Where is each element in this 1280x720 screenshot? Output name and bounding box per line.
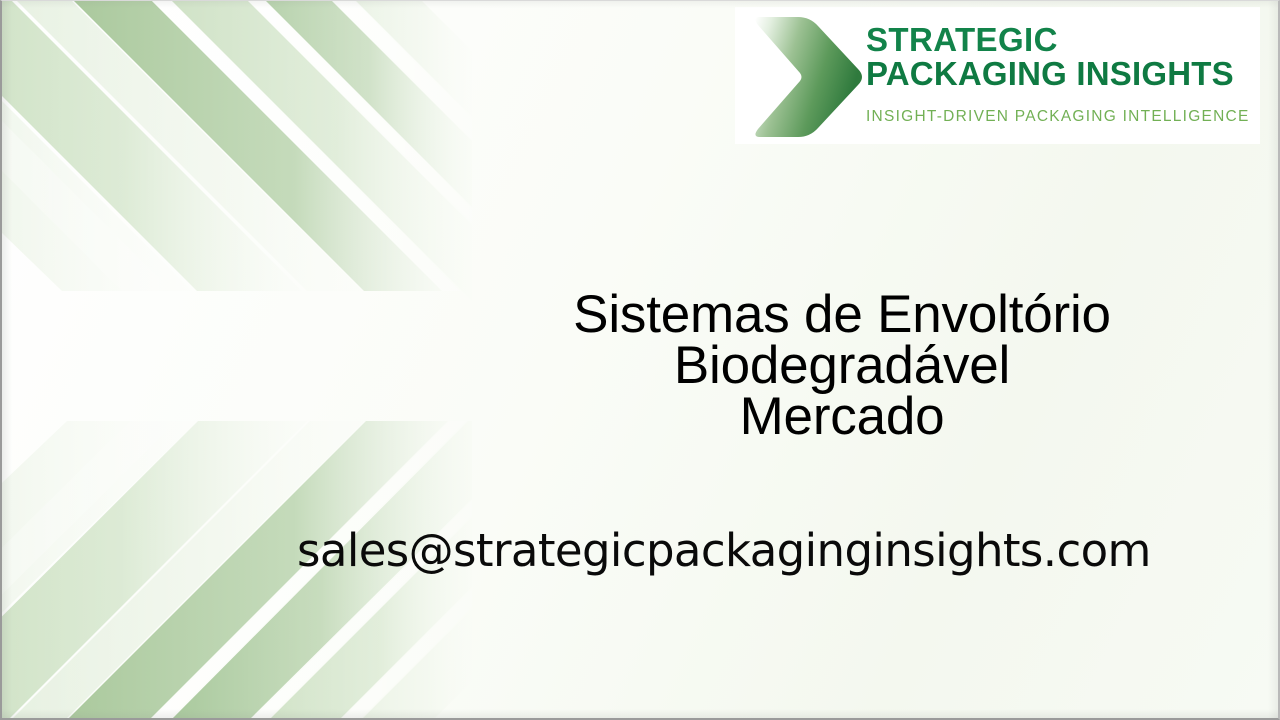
decorative-chevron-bands xyxy=(2,1,472,720)
logo-wordmark: STRATEGIC PACKAGING INSIGHTS INSIGHT-DRI… xyxy=(866,23,1258,126)
logo-line-1: STRATEGIC xyxy=(866,23,1258,56)
page-title: Sistemas de Envoltório Biodegradável Mer… xyxy=(422,289,1262,442)
company-logo: STRATEGIC PACKAGING INSIGHTS INSIGHT-DRI… xyxy=(735,7,1260,144)
title-line-1: Sistemas de Envoltório xyxy=(422,289,1262,340)
title-slide: STRATEGIC PACKAGING INSIGHTS INSIGHT-DRI… xyxy=(0,0,1280,720)
title-line-2: Biodegradável xyxy=(422,340,1262,391)
chevron-band-graphic xyxy=(2,1,472,720)
contact-email: sales@strategicpackaginginsights.com xyxy=(297,520,1151,582)
logo-line-2: PACKAGING INSIGHTS xyxy=(866,56,1258,92)
title-line-3: Mercado xyxy=(422,391,1262,442)
logo-tagline: INSIGHT-DRIVEN PACKAGING INTELLIGENCE xyxy=(866,108,1258,126)
chevron-arrow-icon xyxy=(754,15,866,139)
